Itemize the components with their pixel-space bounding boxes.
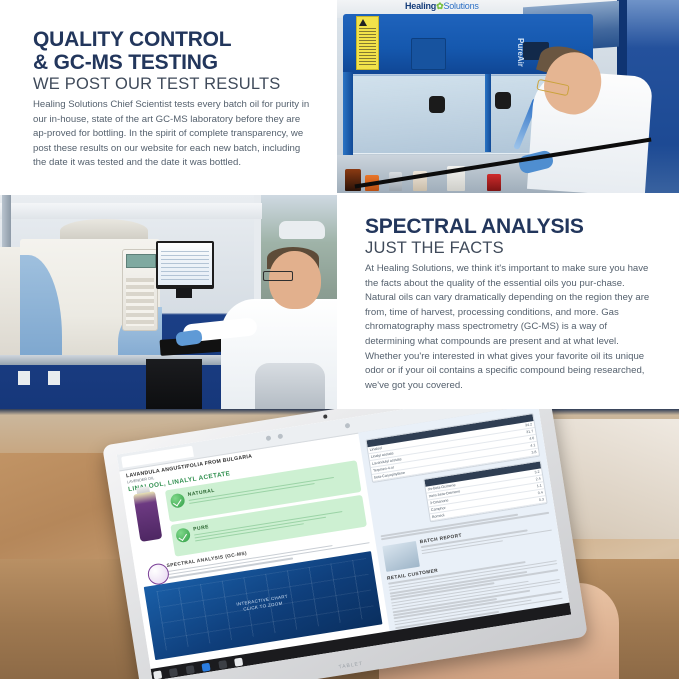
photo-fume-hood-lab: Healing✿Solutions PureAir [337, 0, 679, 193]
tablet-device[interactable]: TABLET LAVANDULA ANGUSTIFOLIA FROM BULGA… [102, 409, 588, 679]
glove-port-right [495, 92, 511, 109]
hood-side-label: PureAir [511, 28, 525, 76]
hood-brand-part1: Healing [405, 1, 436, 11]
hazard-warning-label [356, 16, 379, 70]
fume-hood-brand-label: Healing✿Solutions [405, 1, 479, 12]
parked-car [279, 221, 325, 239]
photo-gcms-instrument [0, 195, 337, 409]
glove-port-left [429, 96, 445, 113]
quality-control-title: QUALITY CONTROL & GC-MS TESTING [33, 28, 313, 74]
instrument-keypad [122, 249, 158, 331]
browser-refresh-icon[interactable] [277, 433, 283, 439]
check-circle-icon [170, 493, 186, 509]
instrument-keys [126, 278, 154, 326]
instrument-lcd-screen [126, 254, 156, 268]
wall-outlet-1 [18, 371, 30, 385]
quality-control-subtitle: WE POST OUR TEST RESULTS [33, 75, 313, 94]
spectral-analysis-title-line1: SPECTRAL ANALYSIS [365, 215, 584, 238]
taskbar-files-icon[interactable] [186, 665, 195, 674]
monitor-screen [158, 243, 212, 285]
warning-text-lines [359, 28, 376, 66]
office-chair [255, 363, 325, 409]
wall-outlet-2 [48, 371, 60, 385]
overhead-shelf [0, 203, 262, 219]
quality-control-title-line2: & GC-MS TESTING [33, 51, 313, 74]
hood-control-panel-left [411, 38, 446, 70]
taskbar-start-icon[interactable] [153, 670, 162, 679]
oil-bottle-image [133, 491, 162, 542]
hood-frame-left [343, 72, 353, 164]
taskbar-store-icon[interactable] [234, 658, 243, 667]
taskbar-browser-icon[interactable] [202, 663, 211, 672]
reagent-bottle-6 [487, 174, 501, 191]
shelf-post [2, 195, 11, 247]
taskbar-search-icon[interactable] [169, 668, 178, 677]
computer-monitor [156, 241, 214, 289]
quality-control-title-line1: QUALITY CONTROL [33, 28, 231, 51]
quality-control-text-block: QUALITY CONTROL & GC-MS TESTING WE POST … [0, 0, 337, 193]
secondary-instrument [0, 247, 22, 355]
spectral-analysis-body: At Healing Solutions, we think it's impo… [365, 262, 657, 393]
spectral-analysis-title: SPECTRAL ANALYSIS [365, 215, 657, 238]
spectral-analysis-text-block: SPECTRAL ANALYSIS JUST THE FACTS At Heal… [337, 193, 679, 409]
report-photo-thumbnail [382, 541, 420, 572]
hood-brand-part2: Solutions [443, 1, 478, 11]
photo-tablet-report: TABLET LAVANDULA ANGUSTIFOLIA FROM BULGA… [0, 409, 679, 679]
under-counter-cabinet [146, 359, 202, 409]
browser-share-icon[interactable] [345, 423, 351, 429]
check-circle-icon [175, 527, 191, 543]
marketing-infographic: QUALITY CONTROL & GC-MS TESTING WE POST … [0, 0, 679, 679]
taskbar-mail-icon[interactable] [218, 660, 227, 669]
hood-frame-middle [485, 74, 491, 152]
scientist2-glasses-icon [263, 271, 293, 281]
monitor-stand [176, 288, 192, 298]
browser-menu-icon[interactable] [266, 435, 272, 441]
quality-control-body: Healing Solutions Chief Scientist tests … [33, 98, 313, 171]
spectral-analysis-subtitle: JUST THE FACTS [365, 239, 657, 258]
monitor-data-rows [161, 251, 209, 281]
